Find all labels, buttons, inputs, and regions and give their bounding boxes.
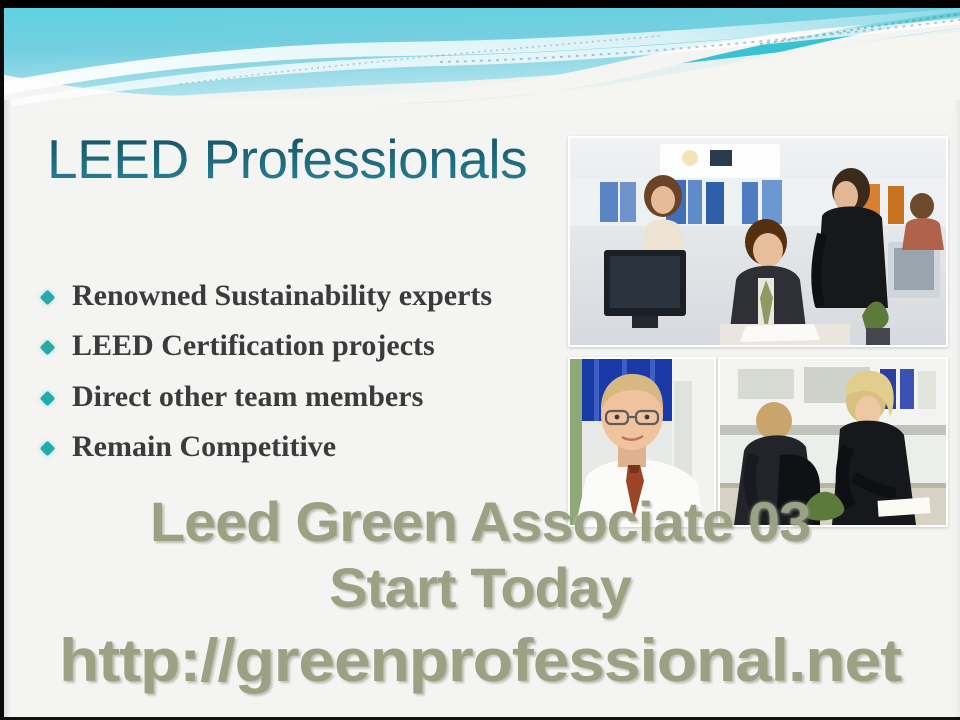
header-wave-banner xyxy=(0,8,960,108)
list-item-label: Remain Competitive xyxy=(72,430,336,463)
bullet-list: Renowned Sustainability experts LEED Cer… xyxy=(36,278,556,480)
overlay-headline: Leed Green Associate 03 xyxy=(0,489,960,554)
list-item: Remain Competitive xyxy=(36,429,556,464)
list-item: LEED Certification projects xyxy=(36,328,556,363)
letterbox-left-bar xyxy=(0,0,4,720)
list-item: Renowned Sustainability experts xyxy=(36,278,556,313)
diamond-bullet-icon xyxy=(40,441,56,457)
overlay-subheadline: Start Today xyxy=(0,555,960,620)
photo-office-team xyxy=(568,136,948,347)
diamond-bullet-icon xyxy=(40,340,56,356)
diamond-bullet-icon xyxy=(40,391,56,407)
presentation-slide: LEED Professionals Renowned Sustainabili… xyxy=(0,0,960,720)
list-item-label: Renowned Sustainability experts xyxy=(72,279,492,312)
list-item: Direct other team members xyxy=(36,379,556,414)
list-item-label: Direct other team members xyxy=(72,380,423,413)
diamond-bullet-icon xyxy=(40,290,56,306)
list-item-label: LEED Certification projects xyxy=(72,329,435,362)
page-title: LEED Professionals xyxy=(47,131,527,189)
overlay-url: http://greenprofessional.net xyxy=(0,626,960,695)
letterbox-top-bar xyxy=(0,0,960,8)
